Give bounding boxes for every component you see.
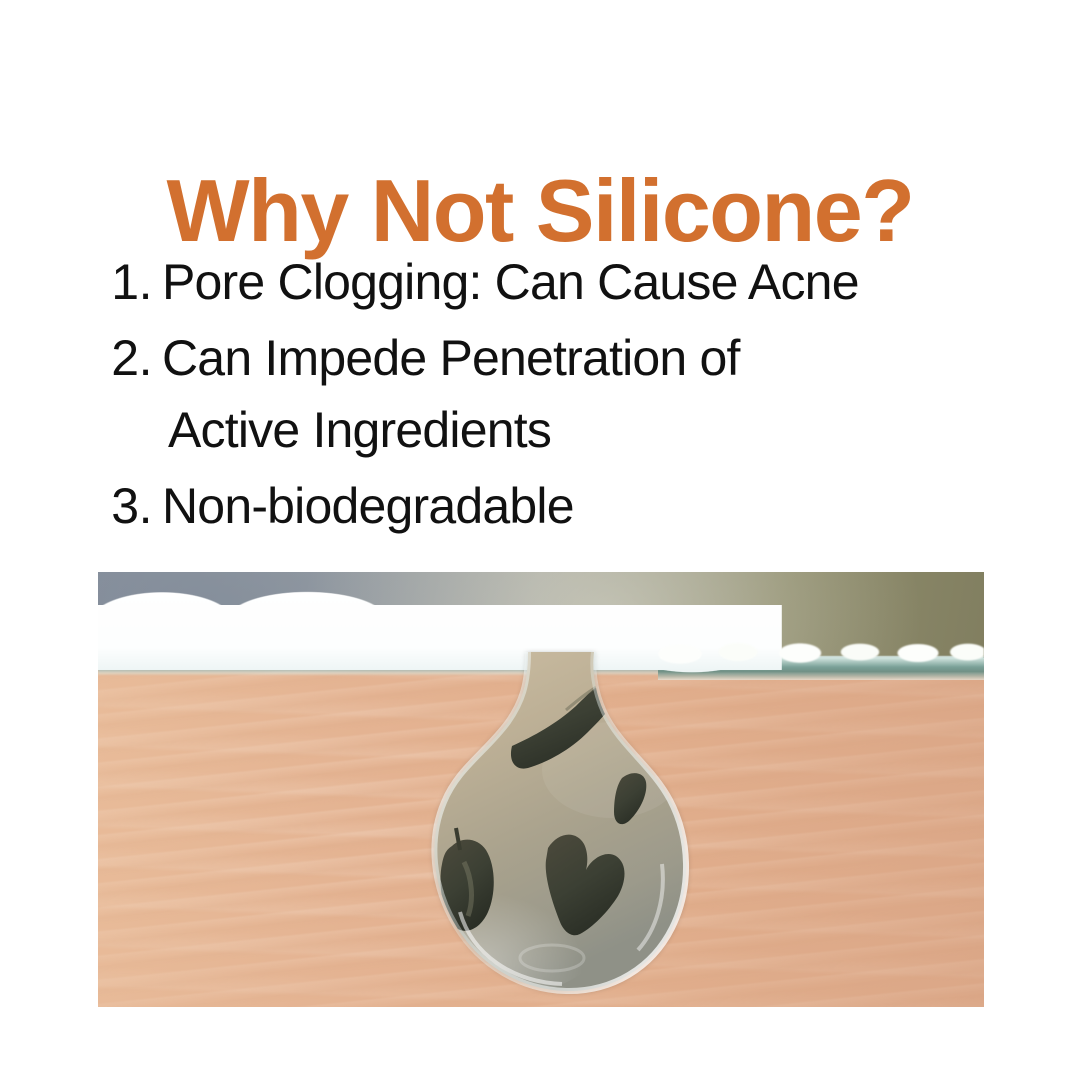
- list-item: 3. Non-biodegradable: [96, 470, 1016, 542]
- list-item-line: Non-biodegradable: [162, 478, 574, 534]
- list-item-number: 1.: [96, 246, 152, 318]
- skin-cross-section-illustration: Cross-section of skin showing a white si…: [98, 572, 984, 1007]
- list-item: 1. Pore Clogging: Can Cause Acne: [96, 246, 1016, 318]
- list-item-text: Can Impede Penetration of Active Ingredi…: [152, 322, 1016, 466]
- list-item-number: 2.: [96, 322, 152, 394]
- list-item-line: Pore Clogging: Can Cause Acne: [162, 254, 859, 310]
- list-item: 2. Can Impede Penetration of Active Ingr…: [96, 322, 1016, 466]
- list-item-text: Non-biodegradable: [152, 470, 1016, 542]
- list-item-text: Pore Clogging: Can Cause Acne: [152, 246, 1016, 318]
- list-item-number: 3.: [96, 470, 152, 542]
- page-title: Why Not Silicone?: [0, 163, 1080, 259]
- reasons-list: 1. Pore Clogging: Can Cause Acne 2. Can …: [96, 246, 1016, 546]
- list-item-line: Active Ingredients: [162, 394, 1016, 466]
- list-item-line: Can Impede Penetration of: [162, 330, 740, 386]
- infographic-card: Why Not Silicone? 1. Pore Clogging: Can …: [0, 0, 1080, 1080]
- clogged-pore: [416, 650, 706, 1007]
